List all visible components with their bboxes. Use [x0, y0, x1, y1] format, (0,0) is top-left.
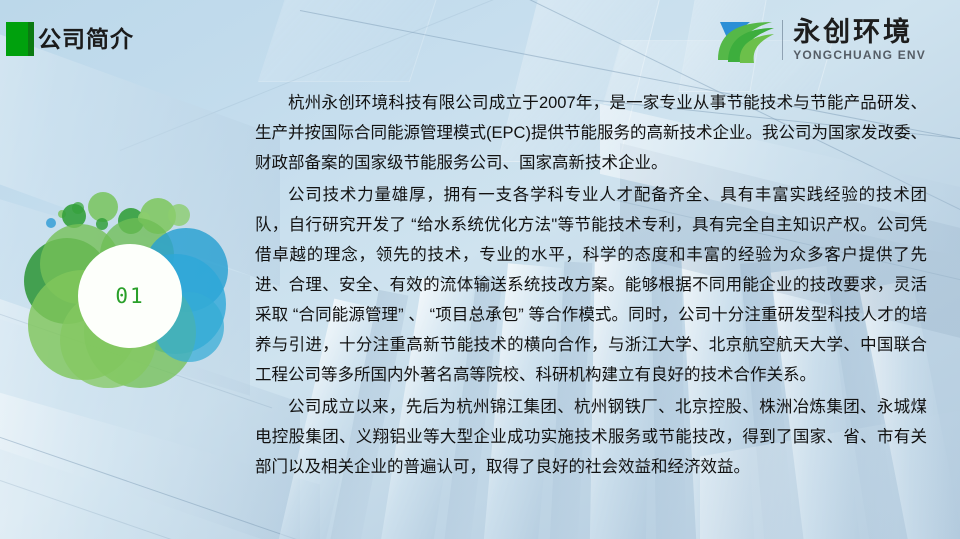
decor-bubble	[46, 218, 56, 228]
bg-panel	[258, 0, 446, 82]
paragraph-3: 公司成立以来，先后为杭州锦江集团、杭州钢铁厂、北京控股、株洲冶炼集团、永城煤电控…	[255, 392, 927, 482]
logo-swoosh-icon	[716, 16, 776, 64]
logo-name-cn: 永创环境	[793, 18, 926, 47]
logo-wordmark: 永创环境 YONGCHUANG ENV	[793, 18, 926, 62]
title-marker-shade	[28, 22, 34, 56]
slide-canvas: 公司简介 永创环境 YONGCHUANG ENV	[0, 0, 960, 539]
paragraph-2: 公司技术力量雄厚，拥有一支各学科专业人才配备齐全、具有丰富实践经验的技术团队，自…	[255, 180, 927, 390]
title-marker-icon	[6, 22, 34, 56]
section-number-circle: 01	[78, 244, 182, 348]
page-title: 公司简介	[38, 22, 134, 56]
section-number-text: 01	[115, 284, 144, 308]
logo-name-en: YONGCHUANG ENV	[793, 48, 926, 62]
decor-bubble	[168, 204, 190, 226]
company-logo: 永创环境 YONGCHUANG ENV	[716, 14, 926, 66]
body-text: 杭州永创环境科技有限公司成立于2007年，是一家专业从事节能技术与节能产品研发、…	[255, 88, 927, 484]
logo-divider	[782, 20, 783, 60]
section-number-badge: 01	[22, 196, 238, 396]
paragraph-1: 杭州永创环境科技有限公司成立于2007年，是一家专业从事节能技术与节能产品研发、…	[255, 88, 927, 178]
